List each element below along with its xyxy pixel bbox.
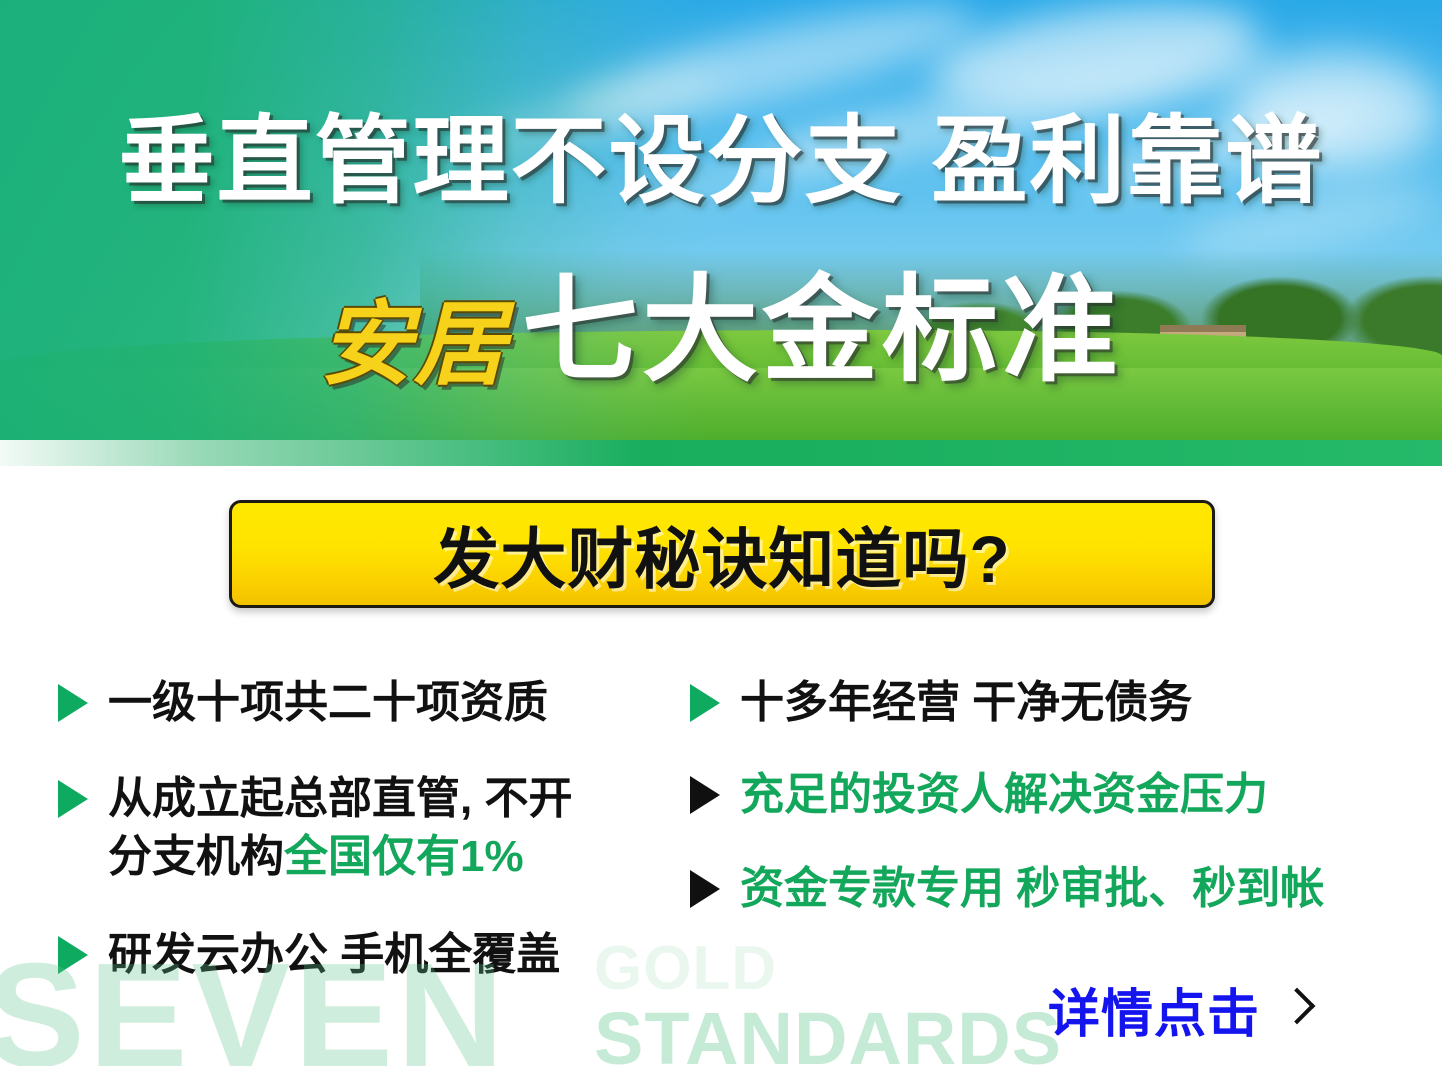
feature-line: 研发云办公 手机全覆盖: [108, 930, 560, 979]
feature-line: 一级十项共二十项资质: [108, 678, 548, 727]
hero-headline-secondary: 安居七大金标准: [0, 272, 1442, 391]
hero-bottom-strip-fade: [0, 440, 640, 466]
hero-headline-main: 七大金标准: [522, 265, 1122, 395]
feature-text: 从成立起总部直管, 不开 分支机构全国仅有1%: [108, 770, 572, 886]
feature-line: 充足的投资人解决资金压力: [740, 770, 1268, 819]
feature-item: 充足的投资人解决资金压力: [690, 766, 1410, 824]
hero-section: 垂直管理不设分支 盈利靠谱 安居七大金标准: [0, 0, 1442, 466]
triangle-bullet-icon: [690, 776, 720, 814]
feature-item: 资金专款专用 秒审批、秒到帐: [690, 860, 1410, 918]
triangle-bullet-icon: [58, 684, 88, 722]
features-column-right: 十多年经营 干净无债务 充足的投资人解决资金压力 资金专款专用 秒审批、秒到帐: [690, 660, 1410, 934]
triangle-bullet-icon: [690, 870, 720, 908]
triangle-bullet-icon: [58, 780, 88, 818]
promo-banner-page: 垂直管理不设分支 盈利靠谱 安居七大金标准 发大财秘诀知道吗? 一级十项共二十项…: [0, 0, 1442, 1066]
feature-highlight: 全国仅有1%: [284, 832, 524, 881]
chevron-right-icon: [1282, 987, 1308, 1033]
feature-item: 一级十项共二十项资质: [58, 674, 698, 732]
details-cta-link[interactable]: 详情点击: [1048, 972, 1308, 1047]
feature-text: 研发云办公 手机全覆盖: [108, 926, 560, 984]
feature-item: 十多年经营 干净无债务: [690, 674, 1410, 732]
feature-text: 十多年经营 干净无债务: [740, 674, 1192, 732]
triangle-bullet-icon: [58, 936, 88, 974]
feature-line: 分支机构: [108, 832, 284, 881]
triangle-bullet-icon: [690, 684, 720, 722]
green-gradient-overlay: [0, 0, 1442, 466]
feature-line: 从成立起总部直管, 不开: [108, 774, 572, 823]
feature-line: 十多年经营 干净无债务: [740, 678, 1192, 727]
features-column-left: 一级十项共二十项资质 从成立起总部直管, 不开 分支机构全国仅有1% 研发云办公…: [58, 660, 698, 1000]
feature-line: 资金专款专用 秒审批、秒到帐: [740, 864, 1324, 913]
feature-text: 一级十项共二十项资质: [108, 674, 548, 732]
feature-item: 从成立起总部直管, 不开 分支机构全国仅有1%: [58, 770, 698, 886]
hero-brand-name: 安居: [320, 294, 508, 396]
feature-text: 资金专款专用 秒审批、秒到帐: [740, 860, 1324, 918]
highlight-banner-text: 发大财秘诀知道吗?: [433, 506, 1010, 602]
feature-item: 研发云办公 手机全覆盖: [58, 926, 698, 984]
watermark-standards: STANDARDS: [594, 1002, 1062, 1066]
hero-headline-primary: 垂直管理不设分支 盈利靠谱: [0, 114, 1442, 210]
feature-text: 充足的投资人解决资金压力: [740, 766, 1268, 824]
details-cta-label: 详情点击: [1048, 972, 1260, 1047]
highlight-banner[interactable]: 发大财秘诀知道吗?: [229, 500, 1215, 608]
